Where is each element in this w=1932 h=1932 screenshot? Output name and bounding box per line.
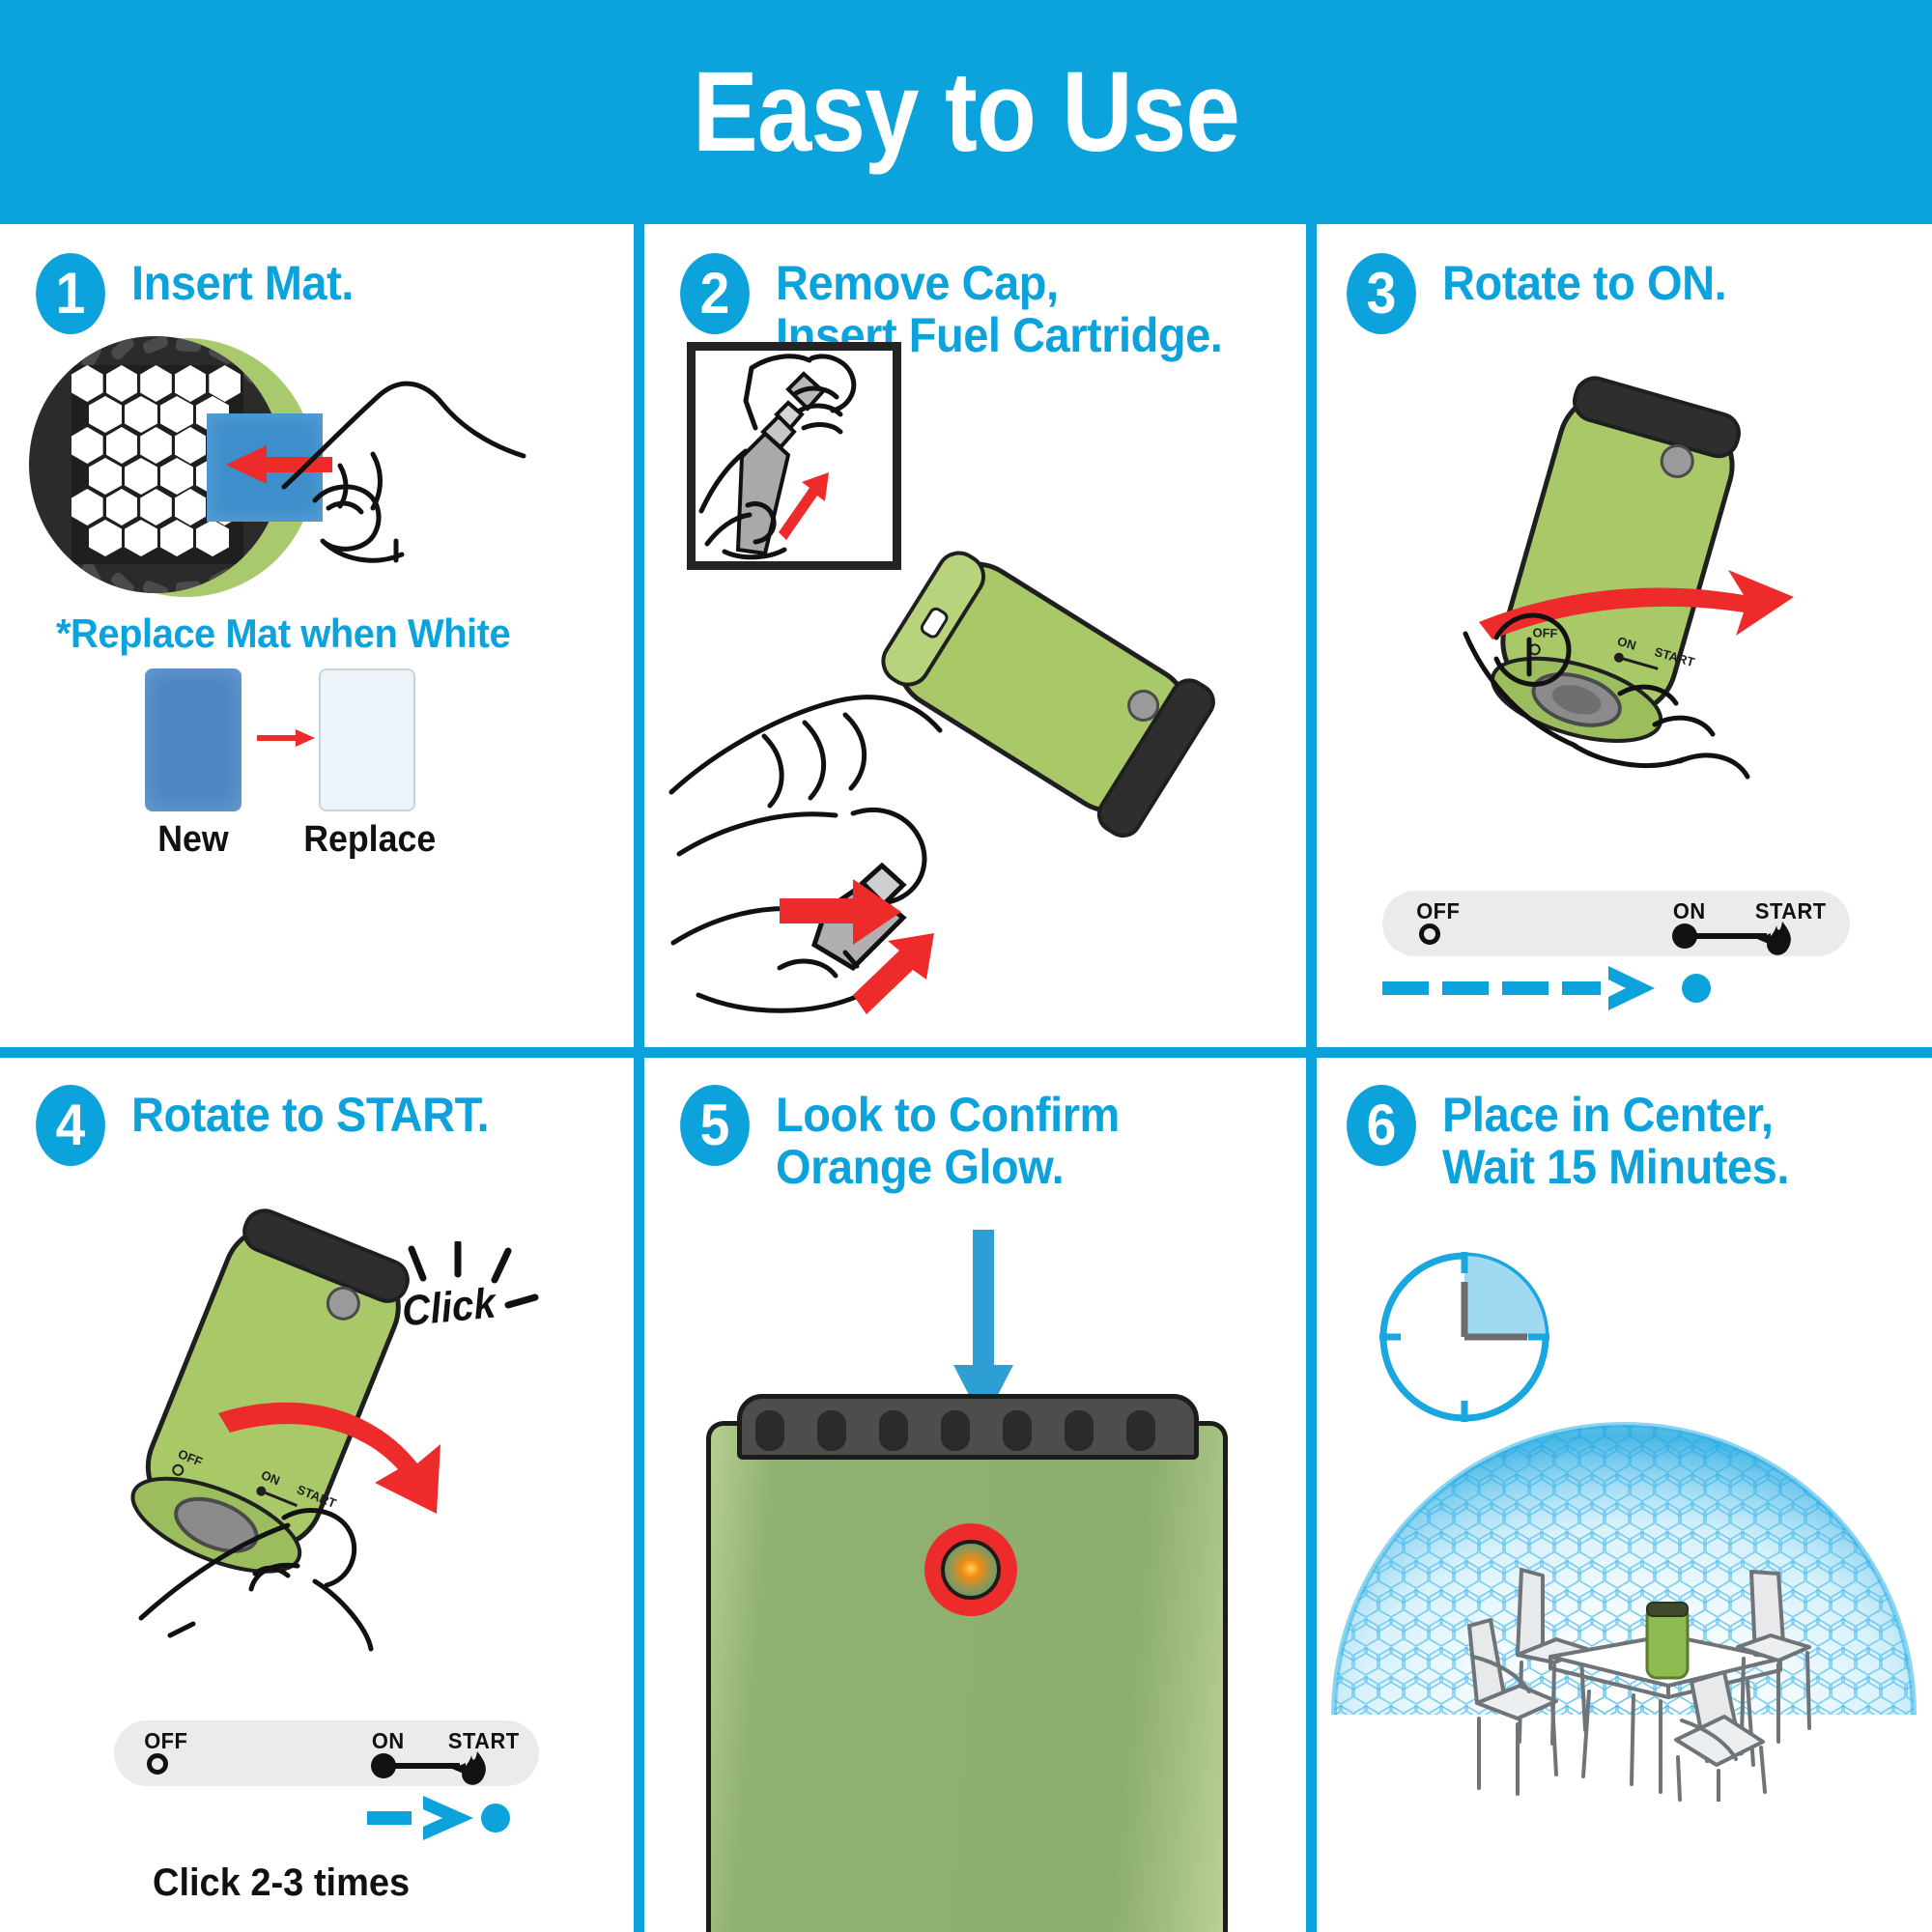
step-5-heading: 5 Look to Confirm Orange Glow.	[677, 1085, 1295, 1193]
step-2-badge: 2	[680, 253, 750, 334]
device-top-grille	[737, 1394, 1199, 1460]
svg-text:OFF: OFF	[1532, 625, 1558, 640]
infographic-sheet: Easy to Use 1 Insert Mat.	[0, 0, 1932, 1932]
step-1-title: Insert Mat.	[131, 253, 354, 309]
rotate-target-arrow-icon	[1382, 964, 1672, 1012]
step-6-heading: 6 Place in Center, Wait 15 Minutes.	[1344, 1085, 1923, 1193]
mat-used-swatch	[319, 668, 415, 811]
page-title: Easy to Use	[693, 55, 1239, 169]
orange-glow-indicator	[941, 1540, 1001, 1600]
header-banner: Easy to Use	[0, 0, 1932, 224]
step-3-title: Rotate to ON.	[1442, 253, 1726, 309]
mat-comparison: New Replace	[126, 668, 454, 852]
step-3-badge: 3	[1347, 253, 1416, 334]
switch-off-label: OFF	[1416, 898, 1460, 924]
step-6-badge: 6	[1347, 1085, 1416, 1166]
step-5-badge: 5	[680, 1085, 750, 1166]
step-panel-6: 6 Place in Center, Wait 15 Minutes.	[1317, 1058, 1932, 1932]
switch-off-label: OFF	[144, 1728, 187, 1754]
step-4-badge: 4	[36, 1085, 105, 1166]
step-panel-3: 3 Rotate to ON. OFF ON START	[1317, 224, 1932, 1047]
mat-replace-label: Replace	[303, 819, 431, 861]
step-4-heading: 4 Rotate to START.	[33, 1085, 612, 1166]
patio-furniture-illustration	[1462, 1512, 1838, 1802]
step-5-title: Look to Confirm Orange Glow.	[776, 1085, 1120, 1193]
insert-mat-illustration	[17, 330, 529, 611]
insert-cartridge-illustration	[664, 514, 1301, 1026]
grid-divider-vertical-1	[634, 224, 644, 1932]
rotate-target-dot-on	[1682, 974, 1711, 1003]
step-3-heading: 3 Rotate to ON.	[1344, 253, 1923, 334]
step-panel-4: 4 Rotate to START. OFF ON START	[0, 1058, 634, 1932]
switch-on-label: ON	[372, 1728, 405, 1754]
step-panel-1: 1 Insert Mat.	[0, 224, 634, 1047]
switch-indicator-bar-start: OFF ON START	[114, 1720, 539, 1786]
grid-divider-vertical-2	[1306, 224, 1317, 1932]
switch-indicator-bar: OFF ON START	[1382, 891, 1850, 956]
status-indicator-ring	[924, 1523, 1017, 1616]
switch-off-marker	[1419, 923, 1440, 945]
step-6-title: Place in Center, Wait 15 Minutes.	[1442, 1085, 1789, 1193]
step-panel-2: 2 Remove Cap, Insert Fuel Cartridge.	[644, 224, 1306, 1047]
hand-illustration	[280, 371, 529, 593]
click-times-caption: Click 2-3 times	[153, 1861, 410, 1905]
device-front-view	[691, 1377, 1241, 1932]
rotate-to-on-illustration: OFF ON START	[1365, 340, 1906, 842]
replace-mat-note: *Replace Mat when White	[56, 611, 570, 657]
mat-new-label: New	[129, 819, 257, 861]
step-panel-5: 5 Look to Confirm Orange Glow.	[644, 1058, 1306, 1932]
switch-on-label: ON	[1673, 898, 1706, 924]
click-annotation: Click	[390, 1241, 564, 1367]
switch-off-marker	[147, 1753, 168, 1775]
step-1-badge: 1	[36, 253, 105, 334]
step-1-heading: 1 Insert Mat.	[33, 253, 593, 334]
mat-new-swatch	[145, 668, 241, 811]
click-text: Click	[400, 1280, 497, 1337]
flame-icon	[450, 1747, 491, 1790]
timer-clock-icon	[1375, 1247, 1554, 1427]
device-body	[706, 1421, 1228, 1932]
mat-change-arrow-icon	[257, 728, 315, 748]
rotate-target-dot-start	[481, 1804, 510, 1833]
grid-divider-horizontal	[0, 1047, 1932, 1058]
step-4-title: Rotate to START.	[131, 1085, 489, 1141]
flame-icon	[1755, 918, 1796, 960]
